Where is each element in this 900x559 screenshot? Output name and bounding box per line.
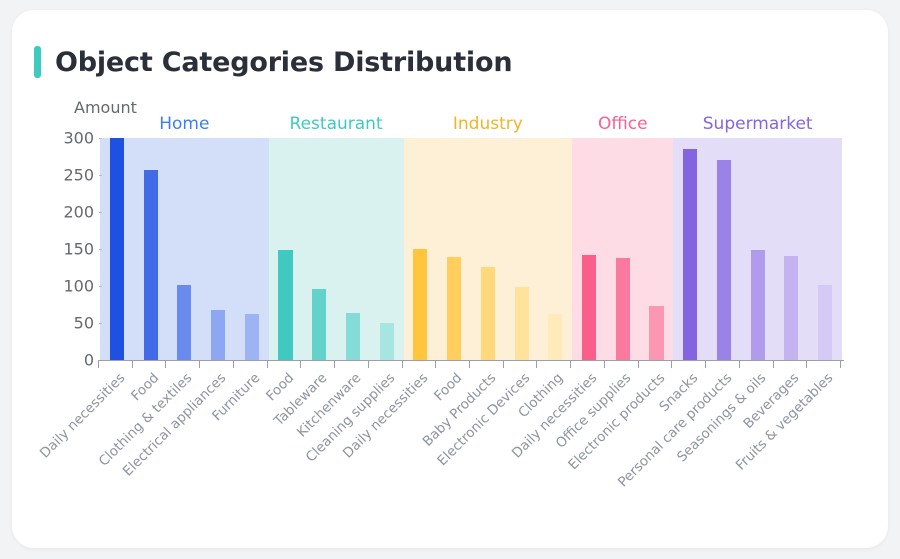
x-tick-mark [469,361,470,368]
y-tick-label: 200 [44,203,94,222]
x-tick-mark [705,361,706,368]
y-tick-label: 50 [44,314,94,333]
x-tick-mark [536,361,537,368]
x-tick-mark [267,361,268,368]
y-tick-label: 250 [44,166,94,185]
chart-plot-area: Amount 050100150200250300 Daily necessit… [42,98,854,518]
x-tick-mark [300,361,301,368]
x-tick-mark [739,361,740,368]
group-label-restaurant: Restaurant [290,114,383,134]
page-background: Object Categories Distribution Amount 05… [0,0,900,559]
bar[interactable] [110,138,124,360]
bar[interactable] [751,250,765,360]
x-tick-mark [334,361,335,368]
x-tick-mark [435,361,436,368]
x-tick-mark [402,361,403,368]
x-tick-mark [604,361,605,368]
x-tick-mark [368,361,369,368]
y-tick-mark [99,249,102,250]
bar[interactable] [177,285,191,360]
x-axis-line [98,360,844,361]
bar[interactable] [717,160,731,360]
bar[interactable] [380,323,394,360]
bar[interactable] [582,255,596,360]
group-label-office: Office [598,114,648,134]
chart-title-row: Object Categories Distribution [34,46,512,78]
bar[interactable] [481,267,495,360]
y-tick-mark [99,286,102,287]
group-label-home: Home [159,114,209,134]
title-accent-bar [34,46,41,78]
y-tick-label: 100 [44,277,94,296]
y-tick-mark [99,323,102,324]
x-tick-mark [671,361,672,368]
x-axis-labels: Daily necessitiesFoodClothing & textiles… [100,370,842,520]
x-tick-mark [773,361,774,368]
x-tick-mark [132,361,133,368]
chart-card: Object Categories Distribution Amount 05… [12,10,888,548]
bar[interactable] [144,170,158,360]
y-tick-label: 300 [44,129,94,148]
bar[interactable] [515,287,529,360]
bar[interactable] [784,256,798,360]
y-tick-label: 0 [44,351,94,370]
bar[interactable] [245,314,259,360]
bar[interactable] [649,306,663,360]
group-label-industry: Industry [453,114,523,134]
x-tick-mark [98,361,99,368]
x-tick-mark [165,361,166,368]
bar[interactable] [548,314,562,360]
bar[interactable] [818,285,832,360]
y-tick-mark [99,175,102,176]
bar[interactable] [278,250,292,360]
bar[interactable] [211,310,225,360]
y-axis: 050100150200250300 [42,138,94,360]
x-tick-mark [199,361,200,368]
x-tick-mark [503,361,504,368]
bar[interactable] [616,258,630,360]
x-tick-mark [570,361,571,368]
bars-layer [100,138,842,360]
bar[interactable] [413,249,427,360]
bar[interactable] [683,149,697,360]
y-axis-title: Amount [74,98,137,117]
bar[interactable] [447,257,461,360]
y-tick-mark [99,138,102,139]
page-title: Object Categories Distribution [55,47,512,78]
group-label-supermarket: Supermarket [703,114,813,134]
x-tick-mark [806,361,807,368]
bar[interactable] [312,289,326,360]
x-tick-mark [638,361,639,368]
x-tick-mark [233,361,234,368]
bar[interactable] [346,313,360,360]
x-tick-mark [840,361,841,368]
y-tick-mark [99,212,102,213]
y-tick-label: 150 [44,240,94,259]
